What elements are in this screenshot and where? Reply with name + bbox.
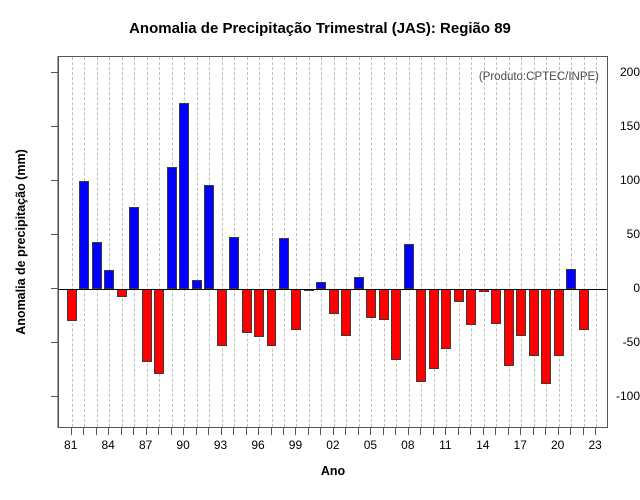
bar-1999 [291,289,301,330]
x-tick-mark [520,428,521,435]
bar-1982 [79,181,89,289]
gridline-vertical [259,57,260,427]
zero-baseline [59,289,607,290]
bar-2004 [354,277,364,289]
x-tick-mark [320,428,321,435]
bar-1995 [242,289,252,333]
gridline-vertical [446,57,447,427]
x-tick-label: 99 [280,438,310,452]
gridline-vertical [359,57,360,427]
gridline-vertical [147,57,148,427]
x-tick-mark [370,428,371,435]
x-tick-mark [71,428,72,435]
source-annotation: (Produto:CPTEC/INPE) [479,71,599,83]
plot-area: (Produto:CPTEC/INPE) [58,56,608,428]
x-tick-label: 20 [543,438,573,452]
gridline-vertical [584,57,585,427]
bar-1988 [154,289,164,374]
bar-1997 [267,289,277,346]
bar-2012 [454,289,464,302]
bar-2020 [554,289,564,356]
x-tick-label: 87 [131,438,161,452]
x-tick-label: 90 [168,438,198,452]
gridline-vertical [396,57,397,427]
x-tick-mark [333,428,334,435]
bar-1996 [254,289,264,338]
x-tick-mark [183,428,184,435]
gridline-vertical [596,57,597,427]
bar-1994 [229,237,239,289]
gridline-vertical [321,57,322,427]
x-tick-label: 93 [206,438,236,452]
bar-2006 [379,289,389,320]
x-tick-mark [233,428,234,435]
x-tick-mark [83,428,84,435]
bar-1991 [192,280,202,289]
gridline-vertical [296,57,297,427]
gridline-vertical [409,57,410,427]
x-tick-label: 08 [393,438,423,452]
x-tick-mark [121,428,122,435]
x-tick-mark [420,428,421,435]
gridline-vertical [521,57,522,427]
bar-2022 [579,289,589,330]
x-tick-mark [533,428,534,435]
x-tick-label: 84 [93,438,123,452]
x-tick-mark [258,428,259,435]
x-tick-mark [171,428,172,435]
x-tick-mark [508,428,509,435]
gridline-vertical [384,57,385,427]
x-tick-mark [295,428,296,435]
x-tick-mark [358,428,359,435]
x-tick-mark [196,428,197,435]
bar-1981 [67,289,77,321]
gridline-vertical [459,57,460,427]
x-tick-mark [133,428,134,435]
x-tick-label: 05 [355,438,385,452]
y-tick-mark [51,288,58,289]
bar-2015 [491,289,501,325]
x-tick-label: 02 [318,438,348,452]
x-tick-mark [208,428,209,435]
chart-title: Anomalia de Precipitação Trimestral (JAS… [0,20,640,37]
x-tick-mark [445,428,446,435]
y-axis-title: Anomalia de precipitação (mm) [14,56,28,428]
gridline-vertical [571,57,572,427]
bar-1989 [167,167,177,289]
gridline-vertical [272,57,273,427]
x-tick-mark [495,428,496,435]
gridline-vertical [346,57,347,427]
gridline-vertical [471,57,472,427]
bar-1998 [279,238,289,289]
x-tick-mark [408,428,409,435]
x-tick-label: 17 [505,438,535,452]
bar-1992 [204,185,214,289]
x-tick-label: 14 [468,438,498,452]
bar-2008 [404,244,414,289]
gridline-vertical [247,57,248,427]
bar-2002 [329,289,339,314]
bar-1993 [217,289,227,346]
x-tick-mark [558,428,559,435]
y-tick-mark [51,342,58,343]
x-tick-mark [146,428,147,435]
x-tick-mark [545,428,546,435]
bar-2019 [541,289,551,384]
y-tick-mark [51,72,58,73]
x-tick-mark [96,428,97,435]
gridline-vertical [559,57,560,427]
bar-1985 [117,289,127,298]
gridline-vertical [371,57,372,427]
bar-2010 [429,289,439,369]
bar-2003 [341,289,351,336]
x-tick-mark [283,428,284,435]
gridline-vertical [534,57,535,427]
bar-1984 [104,270,114,288]
x-tick-mark [221,428,222,435]
bar-1987 [142,289,152,362]
x-tick-mark [583,428,584,435]
gridline-vertical [434,57,435,427]
bar-2016 [504,289,514,367]
precipitation-anomaly-chart: Anomalia de Precipitação Trimestral (JAS… [0,0,640,500]
gridline-vertical [496,57,497,427]
x-tick-mark [158,428,159,435]
x-tick-mark [271,428,272,435]
x-tick-mark [483,428,484,435]
bar-2021 [566,269,576,288]
bar-2007 [391,289,401,360]
bar-2017 [516,289,526,336]
y-tick-mark [51,396,58,397]
gridline-vertical [72,57,73,427]
x-tick-mark [395,428,396,435]
gridline-vertical [484,57,485,427]
bar-2005 [366,289,376,318]
bar-1986 [129,207,139,289]
bar-2009 [416,289,426,382]
x-axis-title: Ano [58,464,608,478]
gridline-vertical [222,57,223,427]
gridline-vertical [509,57,510,427]
bar-1990 [179,103,189,288]
gridline-vertical [122,57,123,427]
gridline-vertical [334,57,335,427]
x-tick-mark [246,428,247,435]
x-tick-mark [433,428,434,435]
y-tick-mark [51,126,58,127]
bar-2018 [529,289,539,356]
bar-1983 [92,242,102,288]
x-tick-mark [345,428,346,435]
y-tick-mark [51,180,58,181]
x-tick-mark [470,428,471,435]
x-tick-mark [308,428,309,435]
x-tick-label: 23 [580,438,610,452]
x-tick-mark [595,428,596,435]
x-tick-label: 96 [243,438,273,452]
x-tick-mark [458,428,459,435]
x-tick-label: 81 [56,438,86,452]
gridline-vertical [309,57,310,427]
x-tick-mark [108,428,109,435]
bar-2013 [466,289,476,326]
x-tick-label: 11 [430,438,460,452]
gridline-vertical [197,57,198,427]
gridline-vertical [109,57,110,427]
x-tick-mark [383,428,384,435]
y-tick-mark [51,234,58,235]
bar-2011 [441,289,451,349]
x-tick-mark [570,428,571,435]
